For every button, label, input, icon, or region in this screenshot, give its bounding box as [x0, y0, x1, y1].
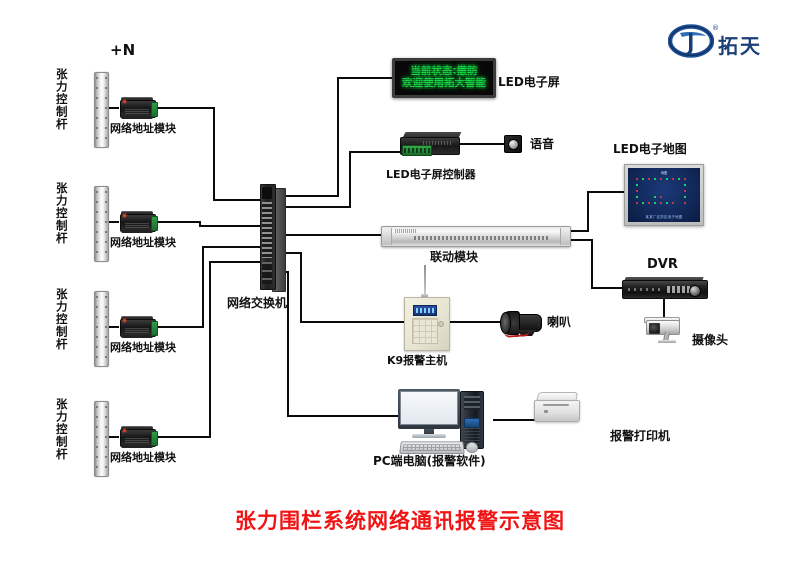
led-display-screen: 当前状态:撤防 欢迎使用拓大智能: [392, 58, 496, 98]
brand-logo: ® 拓天: [668, 24, 788, 64]
led-controller-label: LED电子屏控制器: [386, 169, 476, 182]
network-address-module-1: [118, 97, 158, 119]
module-label-3: 网络地址模块: [110, 342, 176, 355]
printer-label: 报警打印机: [610, 430, 670, 444]
horn-label: 喇叭: [547, 316, 571, 330]
dvr-label: DVR: [647, 258, 678, 273]
horn-speaker-icon: [500, 308, 546, 338]
network-address-module-3: [118, 316, 158, 338]
linkage-module-icon: [381, 226, 571, 247]
pole-label-3: 张力控制杆: [54, 288, 69, 351]
diagram-canvas: ® 拓天 +N 张力控制杆 网络地址模块 张力控制杆 网络地址模块 张力控制杆 …: [0, 0, 800, 579]
module-label-4: 网络地址模块: [110, 452, 176, 465]
tension-control-pole-2: [94, 186, 109, 262]
network-switch-icon: [258, 184, 288, 290]
voice-speaker-icon: [504, 135, 522, 153]
voice-label: 语音: [530, 138, 554, 152]
module-label-1: 网络地址模块: [110, 123, 176, 136]
pole-label-2: 张力控制杆: [54, 182, 69, 245]
tension-control-pole-3: [94, 291, 109, 367]
led-map-icon: 地图 某某厂区防区电子地图: [624, 164, 704, 226]
module-label-2: 网络地址模块: [110, 237, 176, 250]
page-title: 张力围栏系统网络通讯报警示意图: [0, 505, 800, 535]
tuotian-logo-icon: [668, 24, 714, 58]
pole-label-1: 张力控制杆: [54, 68, 69, 131]
status-led-icon: [123, 100, 126, 103]
brand-name: 拓天: [718, 30, 762, 59]
tension-control-pole-4: [94, 401, 109, 477]
status-led-icon: [123, 429, 126, 432]
printer-icon: [534, 392, 578, 422]
terminal-block-icon: [151, 102, 158, 117]
network-address-module-4: [118, 426, 158, 448]
led-screen-label: LED电子屏: [498, 76, 560, 90]
camera-icon: [638, 316, 690, 350]
led-line-2: 欢迎使用拓大智能: [402, 78, 486, 90]
terminal-block-icon: [151, 216, 158, 231]
pc-label: PC端电脑(报警软件): [373, 455, 486, 469]
led-map-caption: 某某厂区防区电子地图: [628, 214, 700, 219]
status-led-icon: [123, 319, 126, 322]
network-address-module-2: [118, 211, 158, 233]
alarm-host-label: K9报警主机: [387, 355, 447, 368]
terminal-block-icon: [151, 321, 158, 336]
led-map-label: LED电子地图: [613, 143, 687, 157]
tension-control-pole-1: [94, 72, 109, 148]
pole-label-4: 张力控制杆: [54, 398, 69, 461]
alarm-host-icon: [404, 297, 448, 349]
terminal-block-icon: [151, 431, 158, 446]
led-map-screen-title: 地图: [628, 170, 700, 175]
led-controller-icon: [400, 132, 462, 156]
desktop-computer-icon: [398, 389, 494, 455]
switch-label: 网络交换机: [227, 297, 287, 311]
linkage-module-label: 联动模块: [430, 251, 478, 265]
status-led-icon: [123, 214, 126, 217]
camera-label: 摄像头: [692, 334, 728, 348]
dvr-icon: [622, 277, 706, 299]
plus-n-annotation: +N: [110, 42, 135, 59]
